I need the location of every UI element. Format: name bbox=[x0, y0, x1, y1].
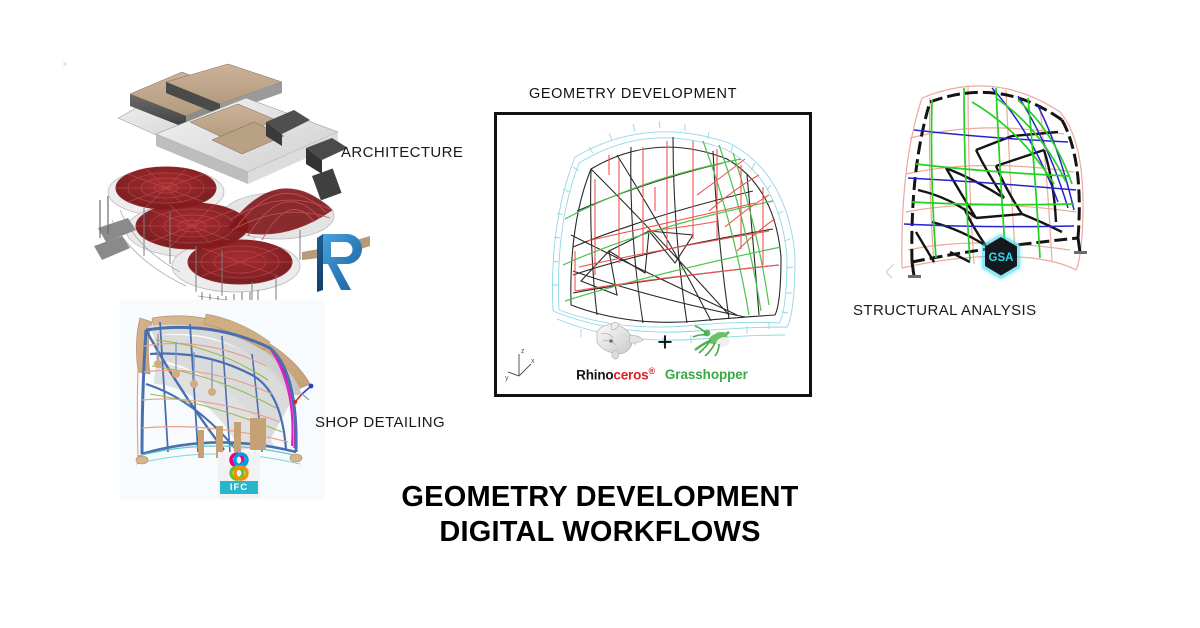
decorative-dot bbox=[63, 62, 67, 66]
geometry-development-panel-title: GEOMETRY DEVELOPMENT bbox=[529, 86, 737, 102]
geometry-development-frame: z x y bbox=[494, 112, 812, 397]
gsa-logo-label: GSA bbox=[989, 252, 1014, 264]
rhinoceros-wordmark: Rhinoceros® bbox=[576, 366, 655, 383]
software-logo-row: + bbox=[557, 321, 767, 383]
gsa-logo: GSA bbox=[978, 232, 1024, 282]
grasshopper-wordmark: Grasshopper bbox=[665, 367, 748, 382]
axis-indicator: z x y bbox=[505, 344, 551, 386]
architecture-caption: ARCHITECTURE bbox=[341, 144, 463, 161]
page-title-line-1: GEOMETRY DEVELOPMENT bbox=[0, 480, 1200, 515]
rhinoceros-icon bbox=[591, 320, 645, 365]
rhino-trademark-symbol: ® bbox=[648, 366, 654, 376]
page-title-line-2: DIGITAL WORKFLOWS bbox=[0, 515, 1200, 550]
axis-y-label: y bbox=[505, 375, 509, 382]
shop-detailing-caption: SHOP DETAILING bbox=[315, 414, 445, 431]
axis-z-label: z bbox=[521, 348, 525, 355]
structural-analysis-caption: STRUCTURAL ANALYSIS bbox=[853, 302, 1036, 319]
axis-x-label: x bbox=[531, 358, 535, 365]
grasshopper-icon bbox=[685, 320, 733, 365]
rhino-word-part2: ceros bbox=[613, 367, 648, 382]
rhino-word-part1: Rhino bbox=[576, 367, 613, 382]
plus-icon: + bbox=[657, 329, 673, 356]
revit-logo bbox=[313, 232, 369, 294]
poster-canvas: IFC GEOMETRY DEVELOPMENT bbox=[0, 0, 1200, 628]
page-title: GEOMETRY DEVELOPMENT DIGITAL WORKFLOWS bbox=[0, 480, 1200, 551]
